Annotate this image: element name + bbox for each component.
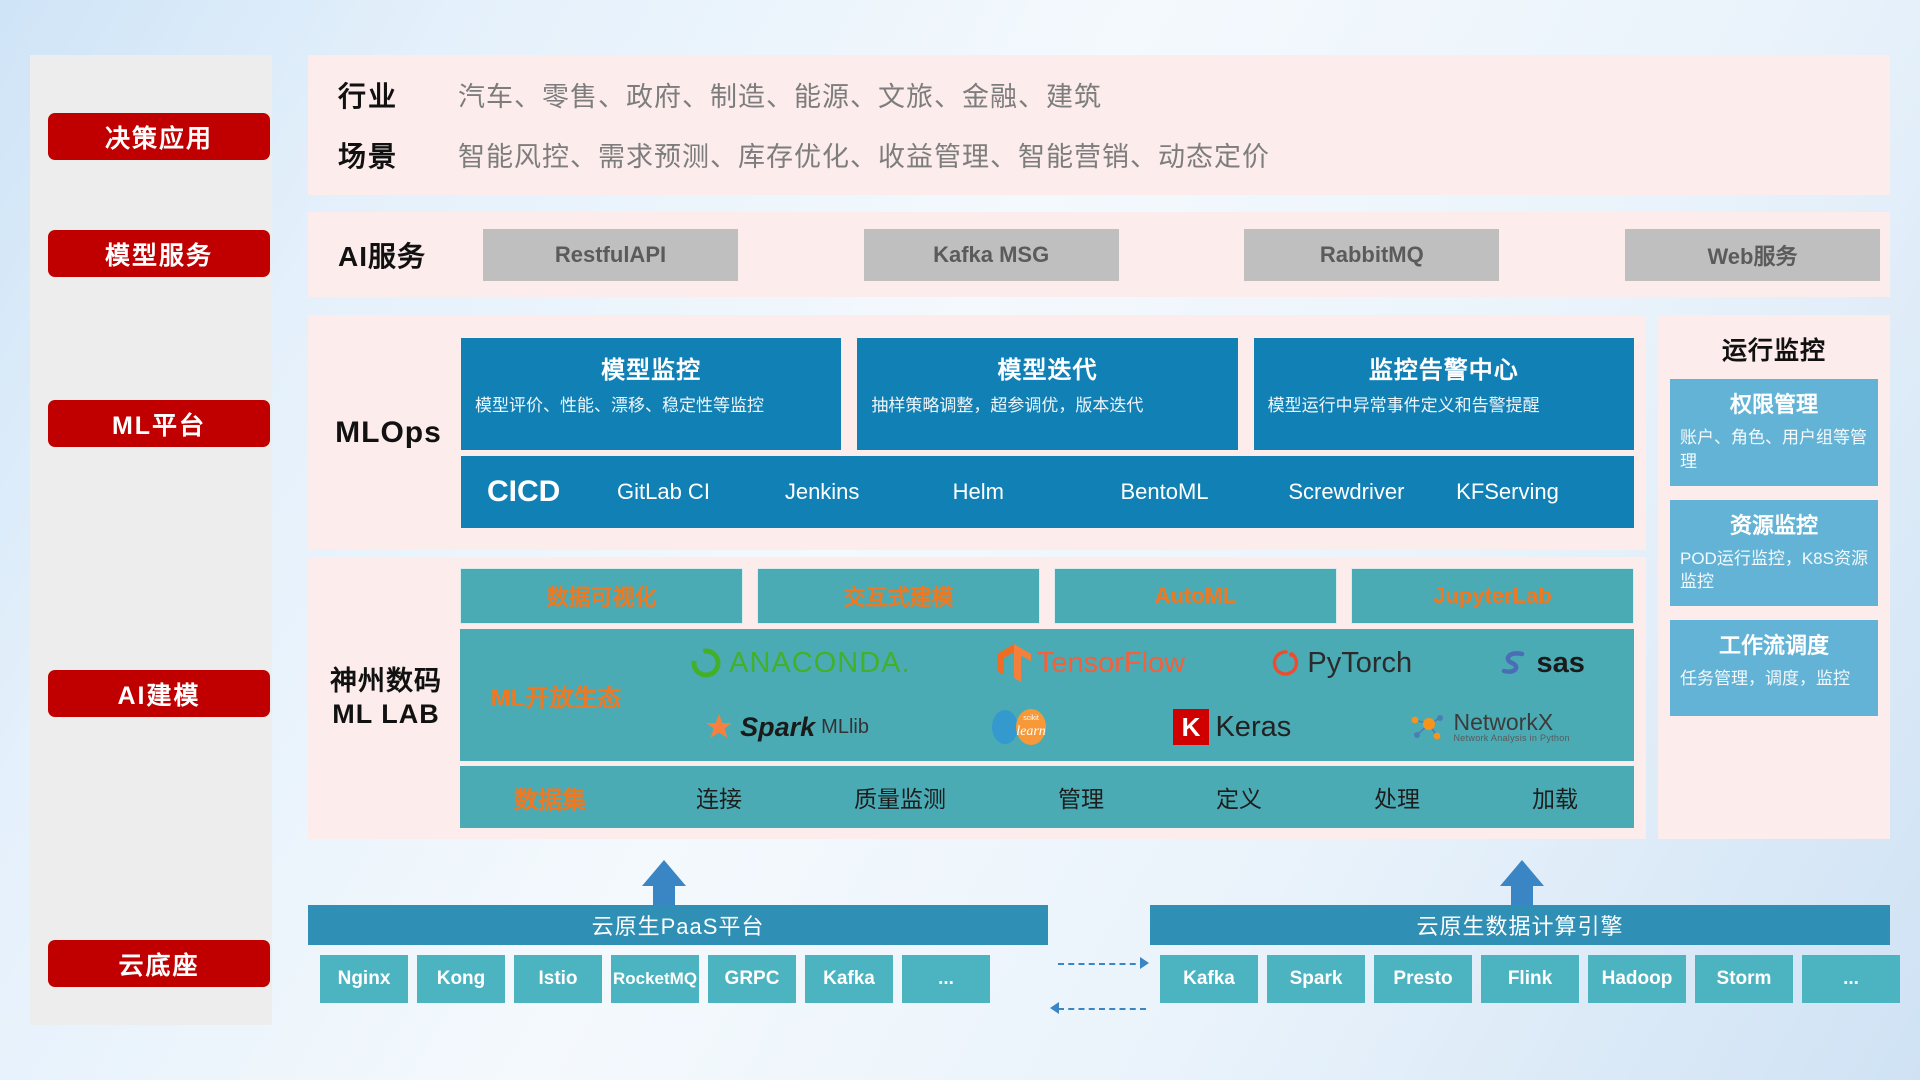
data-chip-presto[interactable]: Presto bbox=[1374, 955, 1472, 1003]
data-chip-hadoop[interactable]: Hadoop bbox=[1588, 955, 1686, 1003]
ml-lab-label-line2: ML LAB bbox=[312, 698, 460, 731]
rail-label: ML平台 bbox=[112, 406, 206, 442]
card-title: 工作流调度 bbox=[1680, 628, 1868, 660]
networkx-wordmark: NetworkX bbox=[1453, 711, 1569, 734]
mlops-band: MLOps 模型监控 模型评价、性能、漂移、稳定性等监控 模型迭代 抽样策略调整… bbox=[308, 315, 1646, 550]
runtime-monitor-title: 运行监控 bbox=[1670, 331, 1878, 367]
data-engine-up-arrow-icon bbox=[1500, 860, 1544, 886]
ml-open-ecosystem-row: ML开放生态 ANACONDA. bbox=[460, 629, 1634, 761]
rail-item-ml-platform[interactable]: ML平台 bbox=[48, 400, 270, 447]
card-desc: POD运行监控，K8S资源监控 bbox=[1680, 547, 1868, 595]
paas-chip-list: Nginx Kong Istio RocketMQ GRPC Kafka ... bbox=[320, 955, 990, 1003]
card-desc: 模型评价、性能、漂移、稳定性等监控 bbox=[475, 394, 827, 418]
data-chip-spark[interactable]: Spark bbox=[1267, 955, 1365, 1003]
sas-logo: sas bbox=[1498, 647, 1584, 680]
cicd-item-helm[interactable]: Helm bbox=[953, 480, 1121, 503]
paas-chip-kong[interactable]: Kong bbox=[417, 955, 505, 1003]
keras-icon: K bbox=[1173, 709, 1209, 745]
ecosystem-logo-row-2: Spark MLlib scikit learn bbox=[646, 696, 1628, 758]
cicd-bar: CICD GitLab CI Jenkins Helm BentoML Scre… bbox=[461, 456, 1634, 528]
dataset-row: 数据集 连接 质量监测 管理 定义 处理 加载 bbox=[460, 766, 1634, 828]
anaconda-wordmark: ANACONDA. bbox=[729, 647, 910, 680]
tool-chip-data-visualization[interactable]: 数据可视化 bbox=[460, 568, 743, 624]
paas-chip-grpc[interactable]: GRPC bbox=[708, 955, 796, 1003]
card-title: 监控告警中心 bbox=[1268, 350, 1620, 385]
ai-service-chip-kafka-msg[interactable]: Kafka MSG bbox=[864, 229, 1119, 281]
ml-lab-label-line1: 神州数码 bbox=[312, 665, 460, 698]
rail-item-cloud-base[interactable]: 云底座 bbox=[48, 940, 270, 987]
spark-wordmark: Spark bbox=[740, 712, 815, 743]
cloud-native-data-engine-header: 云原生数据计算引擎 bbox=[1150, 905, 1890, 945]
tool-chip-automl[interactable]: AutoML bbox=[1054, 568, 1337, 624]
dashed-arrow-left-icon bbox=[1050, 1002, 1059, 1014]
dataset-label: 数据集 bbox=[460, 780, 640, 815]
mlops-card-list: 模型监控 模型评价、性能、漂移、稳定性等监控 模型迭代 抽样策略调整，超参调优，… bbox=[461, 338, 1634, 450]
networkx-icon bbox=[1407, 710, 1447, 744]
paas-up-arrow-icon bbox=[642, 860, 686, 886]
networkx-subtitle: Network Analysis in Python bbox=[1453, 734, 1569, 743]
card-title: 模型迭代 bbox=[871, 350, 1223, 385]
mlops-card-model-iteration[interactable]: 模型迭代 抽样策略调整，超参调优，版本迭代 bbox=[857, 338, 1237, 450]
cicd-item-bentoml[interactable]: BentoML bbox=[1120, 480, 1288, 503]
cicd-item-kfserving[interactable]: KFServing bbox=[1456, 480, 1624, 503]
monitor-card-workflow[interactable]: 工作流调度 任务管理，调度，监控 bbox=[1670, 620, 1878, 716]
svg-text:scikit: scikit bbox=[1023, 715, 1039, 722]
cicd-item-screwdriver[interactable]: Screwdriver bbox=[1288, 480, 1456, 503]
ml-lab-label: 神州数码 ML LAB bbox=[312, 665, 460, 731]
rail-label: 云底座 bbox=[118, 946, 199, 982]
spark-mllib-logo: Spark MLlib bbox=[704, 712, 869, 743]
scenario-values: 智能风控、需求预测、库存优化、收益管理、智能营销、动态定价 bbox=[458, 135, 1270, 174]
ecosystem-logo-row-1: ANACONDA. TensorFlow bbox=[646, 632, 1628, 694]
rail-label: AI建模 bbox=[117, 676, 200, 712]
cicd-title: CICD bbox=[487, 475, 617, 509]
tool-chip-interactive-modeling[interactable]: 交互式建模 bbox=[757, 568, 1040, 624]
industry-label: 行业 bbox=[338, 75, 458, 115]
tensorflow-wordmark: TensorFlow bbox=[1037, 647, 1185, 680]
ml-open-ecosystem-label: ML开放生态 bbox=[466, 678, 646, 713]
data-chip-kafka[interactable]: Kafka bbox=[1160, 955, 1258, 1003]
card-desc: 任务管理，调度，监控 bbox=[1680, 667, 1868, 691]
cloud-native-paas-header: 云原生PaaS平台 bbox=[308, 905, 1048, 945]
dashed-arrow-right-icon bbox=[1140, 957, 1149, 969]
scenario-label: 场景 bbox=[338, 135, 458, 175]
anaconda-icon bbox=[689, 646, 723, 680]
paas-chip-more[interactable]: ... bbox=[902, 955, 990, 1003]
tool-chip-jupyterlab[interactable]: JupyterLab bbox=[1351, 568, 1634, 624]
scenario-row: 场景 智能风控、需求预测、库存优化、收益管理、智能营销、动态定价 bbox=[338, 135, 1890, 175]
ai-service-band: AI服务 RestfulAPI Kafka MSG RabbitMQ Web服务 bbox=[308, 212, 1890, 297]
industry-values: 汽车、零售、政府、制造、能源、文旅、金融、建筑 bbox=[458, 75, 1102, 114]
paas-chip-nginx[interactable]: Nginx bbox=[320, 955, 408, 1003]
data-chip-flink[interactable]: Flink bbox=[1481, 955, 1579, 1003]
cicd-item-gitlab-ci[interactable]: GitLab CI bbox=[617, 480, 785, 503]
data-chip-storm[interactable]: Storm bbox=[1695, 955, 1793, 1003]
paas-chip-kafka[interactable]: Kafka bbox=[805, 955, 893, 1003]
data-engine-arrow-stem bbox=[1511, 884, 1533, 906]
sas-wordmark: sas bbox=[1536, 647, 1584, 680]
mlops-card-model-monitoring[interactable]: 模型监控 模型评价、性能、漂移、稳定性等监控 bbox=[461, 338, 841, 450]
dataset-item-connect[interactable]: 连接 bbox=[696, 780, 742, 814]
paas-chip-istio[interactable]: Istio bbox=[514, 955, 602, 1003]
tensorflow-logo: TensorFlow bbox=[997, 644, 1185, 682]
keras-wordmark: Keras bbox=[1215, 711, 1291, 744]
ai-service-label: AI服务 bbox=[338, 235, 483, 275]
pytorch-wordmark: PyTorch bbox=[1307, 647, 1412, 680]
svg-text:K: K bbox=[1182, 712, 1201, 742]
cicd-item-list: GitLab CI Jenkins Helm BentoML Screwdriv… bbox=[617, 480, 1624, 503]
rail-item-decision-app[interactable]: 决策应用 bbox=[48, 113, 270, 160]
anaconda-logo: ANACONDA. bbox=[689, 646, 910, 680]
sas-icon bbox=[1498, 648, 1530, 678]
ai-service-chip-web-service[interactable]: Web服务 bbox=[1625, 229, 1880, 281]
card-desc: 账户、角色、用户组等管理 bbox=[1680, 426, 1868, 474]
industry-scenario-band: 行业 汽车、零售、政府、制造、能源、文旅、金融、建筑 场景 智能风控、需求预测、… bbox=[308, 55, 1890, 195]
mllib-wordmark: MLlib bbox=[821, 716, 869, 739]
industry-row: 行业 汽车、零售、政府、制造、能源、文旅、金融、建筑 bbox=[338, 75, 1890, 115]
ai-service-chip-rabbitmq[interactable]: RabbitMQ bbox=[1244, 229, 1499, 281]
card-title: 资源监控 bbox=[1680, 508, 1868, 540]
left-rail bbox=[30, 55, 272, 1025]
monitor-card-resource[interactable]: 资源监控 POD运行监控，K8S资源监控 bbox=[1670, 500, 1878, 607]
scikit-learn-logo: scikit learn bbox=[985, 707, 1057, 747]
monitor-card-permission[interactable]: 权限管理 账户、角色、用户组等管理 bbox=[1670, 379, 1878, 486]
paas-chip-rocketmq[interactable]: RocketMQ bbox=[611, 955, 699, 1003]
dataset-item-list: 连接 质量监测 管理 定义 处理 加载 bbox=[640, 780, 1634, 814]
dashed-connector-bottom bbox=[1058, 1008, 1146, 1010]
scikit-learn-icon: scikit learn bbox=[985, 707, 1057, 747]
ai-service-chip-list: RestfulAPI Kafka MSG RabbitMQ Web服务 bbox=[483, 229, 1890, 281]
ai-service-chip-restfulapi[interactable]: RestfulAPI bbox=[483, 229, 738, 281]
dataset-item-management[interactable]: 管理 bbox=[1058, 780, 1104, 814]
rail-item-ai-modeling[interactable]: AI建模 bbox=[48, 670, 270, 717]
rail-label: 模型服务 bbox=[105, 236, 213, 272]
rail-label: 决策应用 bbox=[105, 119, 213, 155]
cicd-item-jenkins[interactable]: Jenkins bbox=[785, 480, 953, 503]
data-chip-more[interactable]: ... bbox=[1802, 955, 1900, 1003]
ai-modeling-band: 神州数码 ML LAB 数据可视化 交互式建模 AutoML JupyterLa… bbox=[308, 557, 1646, 839]
keras-logo: K Keras bbox=[1173, 709, 1291, 745]
dataset-item-loading[interactable]: 加载 bbox=[1532, 780, 1578, 814]
paas-arrow-stem bbox=[653, 884, 675, 906]
rail-item-model-service[interactable]: 模型服务 bbox=[48, 230, 270, 277]
card-title: 模型监控 bbox=[475, 350, 827, 385]
dashed-connector-top bbox=[1058, 963, 1146, 965]
dataset-item-definition[interactable]: 定义 bbox=[1216, 780, 1262, 814]
svg-text:learn: learn bbox=[1016, 724, 1046, 739]
card-title: 权限管理 bbox=[1680, 387, 1868, 419]
dataset-item-processing[interactable]: 处理 bbox=[1374, 780, 1420, 814]
data-engine-chip-list: Kafka Spark Presto Flink Hadoop Storm ..… bbox=[1160, 955, 1900, 1003]
pytorch-icon bbox=[1271, 646, 1301, 680]
card-desc: 抽样策略调整，超参调优，版本迭代 bbox=[871, 394, 1223, 418]
card-desc: 模型运行中异常事件定义和告警提醒 bbox=[1268, 394, 1620, 418]
runtime-monitor-panel: 运行监控 权限管理 账户、角色、用户组等管理 资源监控 POD运行监控，K8S资… bbox=[1658, 315, 1890, 839]
mlops-label: MLOps bbox=[316, 416, 461, 450]
spark-star-icon bbox=[704, 712, 734, 742]
modeling-tool-list: 数据可视化 交互式建模 AutoML JupyterLab bbox=[460, 568, 1634, 624]
pytorch-logo: PyTorch bbox=[1271, 646, 1412, 680]
dataset-item-quality-monitoring[interactable]: 质量监测 bbox=[854, 780, 946, 814]
networkx-logo: NetworkX Network Analysis in Python bbox=[1407, 710, 1569, 744]
tensorflow-icon bbox=[997, 644, 1031, 682]
mlops-card-alert-center[interactable]: 监控告警中心 模型运行中异常事件定义和告警提醒 bbox=[1254, 338, 1634, 450]
